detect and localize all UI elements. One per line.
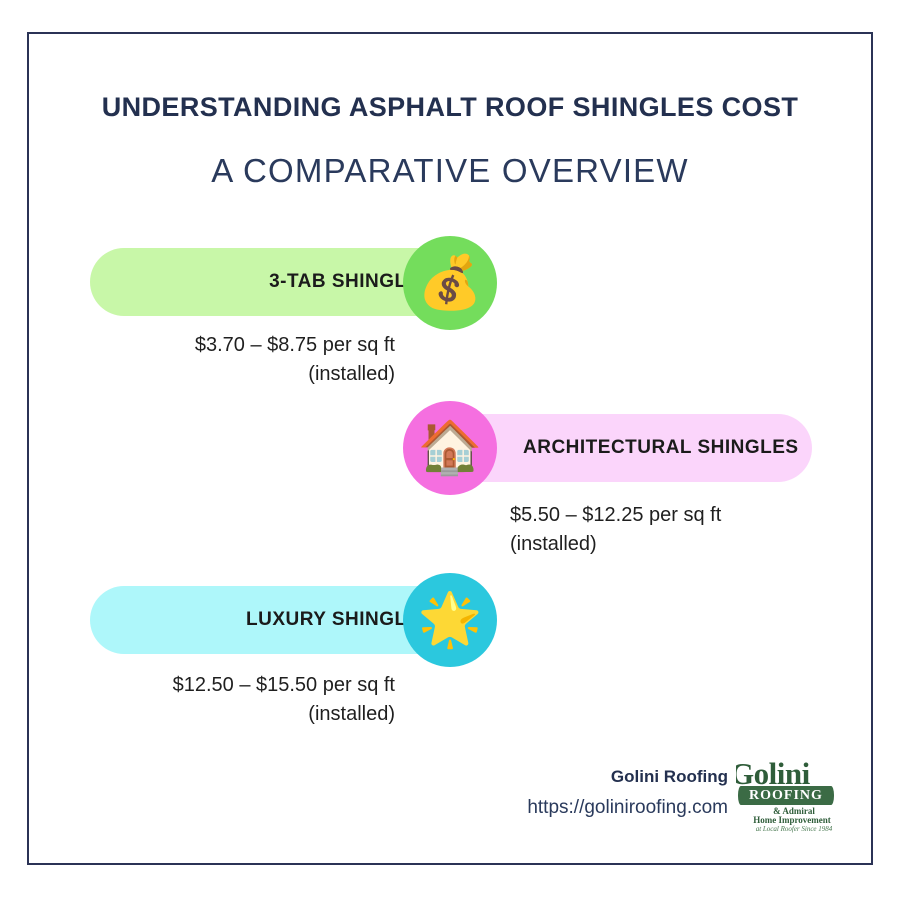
page-title: UNDERSTANDING ASPHALT ROOF SHINGLES COST bbox=[0, 92, 900, 123]
house-icon: 🏠 bbox=[403, 401, 497, 495]
price-range-architectural: $5.50 – $12.25 per sq ft bbox=[510, 501, 830, 530]
glowing-star-icon-glyph: 🌟 bbox=[418, 594, 483, 646]
infographic-canvas: UNDERSTANDING ASPHALT ROOF SHINGLES COST… bbox=[0, 0, 900, 900]
footer-brand-name: Golini Roofing bbox=[611, 767, 728, 787]
price-note-luxury: (installed) bbox=[95, 700, 395, 729]
footer-website-url[interactable]: https://goliniroofing.com bbox=[527, 797, 728, 819]
money-bag-icon-glyph: 💰 bbox=[418, 257, 483, 309]
price-note-architectural: (installed) bbox=[510, 530, 830, 559]
price-range-3-tab: $3.70 – $8.75 per sq ft bbox=[95, 331, 395, 360]
logo-subtext-home-improvement: Home Improvement bbox=[738, 815, 846, 825]
price-note-3-tab: (installed) bbox=[95, 360, 395, 389]
price-luxury: $12.50 – $15.50 per sq ft (installed) bbox=[95, 671, 395, 729]
golini-roofing-logo: Golini ROOFING & Admiral Home Improvemen… bbox=[736, 760, 846, 834]
logo-subtext-tagline: at Local Roofer Since 1984 bbox=[742, 825, 846, 833]
price-range-luxury: $12.50 – $15.50 per sq ft bbox=[95, 671, 395, 700]
page-subtitle: A COMPARATIVE OVERVIEW bbox=[0, 152, 900, 190]
price-3-tab: $3.70 – $8.75 per sq ft (installed) bbox=[95, 331, 395, 389]
logo-banner-roofing: ROOFING bbox=[738, 786, 834, 805]
glowing-star-icon: 🌟 bbox=[403, 573, 497, 667]
house-icon-glyph: 🏠 bbox=[418, 422, 483, 474]
price-architectural: $5.50 – $12.25 per sq ft (installed) bbox=[510, 501, 830, 559]
money-bag-icon: 💰 bbox=[403, 236, 497, 330]
